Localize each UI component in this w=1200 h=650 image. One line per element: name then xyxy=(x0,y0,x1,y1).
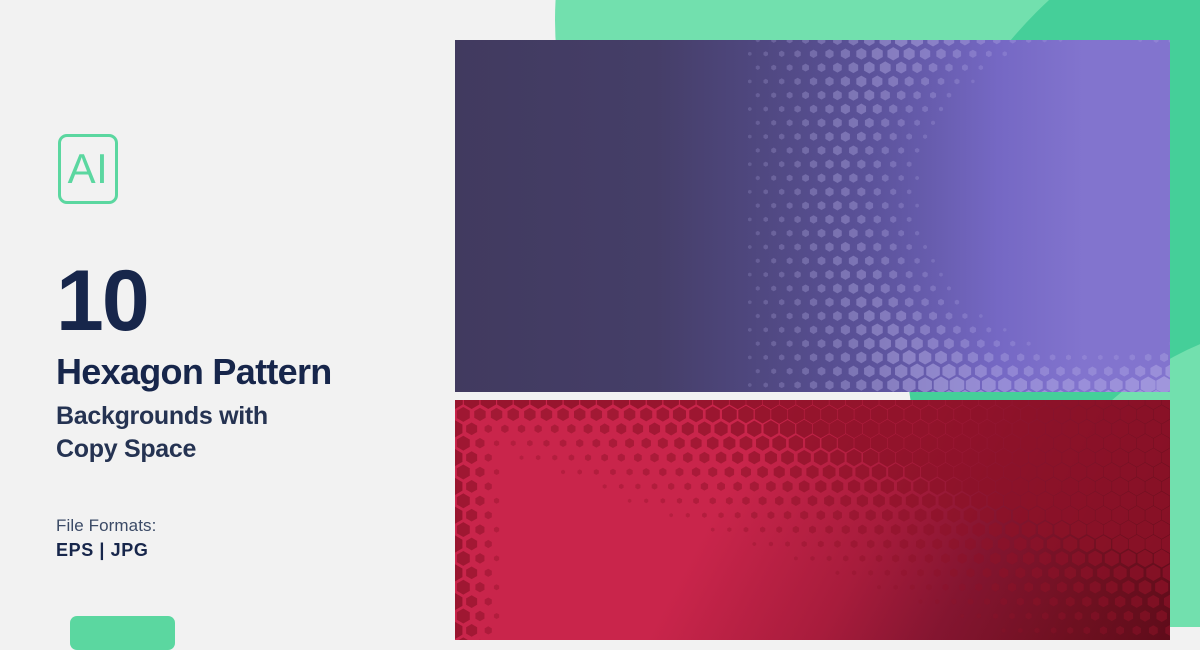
page-subtitle: Backgrounds with Copy Space xyxy=(56,400,268,465)
preview-red-hexagon-banner[interactable] xyxy=(455,400,1170,640)
file-formats-label: File Formats: xyxy=(56,516,156,536)
adobe-illustrator-badge-icon: AI xyxy=(58,134,118,204)
file-formats-value: EPS | JPG xyxy=(56,540,148,561)
hexagon-halftone-pattern-red xyxy=(455,400,1170,640)
hexagon-halftone-pattern-purple xyxy=(455,40,1170,392)
cta-button[interactable] xyxy=(70,616,175,650)
page-title: Hexagon Pattern xyxy=(56,352,332,392)
adobe-illustrator-badge-label: AI xyxy=(68,148,109,190)
item-count: 10 xyxy=(56,258,148,344)
preview-purple-hexagon-banner[interactable] xyxy=(455,40,1170,392)
info-column: AI 10 Hexagon Pattern Backgrounds with C… xyxy=(0,0,455,627)
page-subtitle-line-1: Backgrounds with xyxy=(56,400,268,433)
page-subtitle-line-2: Copy Space xyxy=(56,433,268,466)
